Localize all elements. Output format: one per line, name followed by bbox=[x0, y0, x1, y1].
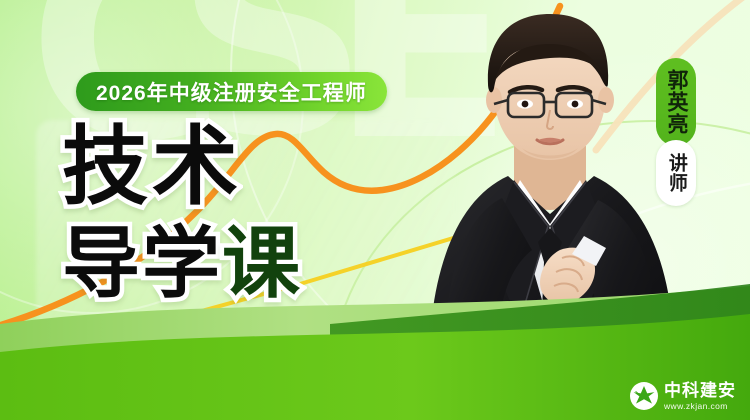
title-line-1: 技术 bbox=[62, 124, 302, 210]
brand-logo: 中科建安 www.zkjan.com bbox=[630, 382, 736, 411]
star-arrow-icon bbox=[632, 384, 656, 408]
course-poster: C S E 2026年中级注册安全工程师 技术 导学 课 bbox=[0, 0, 750, 420]
instructor-name-pill: 郭英亮 bbox=[656, 58, 696, 146]
badge-label: 2026年中级注册安全工程师 bbox=[96, 77, 367, 107]
logo-website-url: www.zkjan.com bbox=[664, 402, 736, 411]
logo-text: 中科建安 www.zkjan.com bbox=[664, 382, 736, 411]
instructor-role-pill: 讲师 bbox=[656, 140, 696, 206]
instructor-name: 郭英亮 bbox=[664, 69, 688, 135]
logo-mark bbox=[630, 382, 658, 410]
course-exam-badge: 2026年中级注册安全工程师 bbox=[76, 72, 387, 111]
page-title: 技术 导学 课 bbox=[62, 124, 302, 302]
logo-company-name: 中科建安 bbox=[664, 382, 736, 399]
instructor-role: 讲师 bbox=[665, 153, 687, 193]
